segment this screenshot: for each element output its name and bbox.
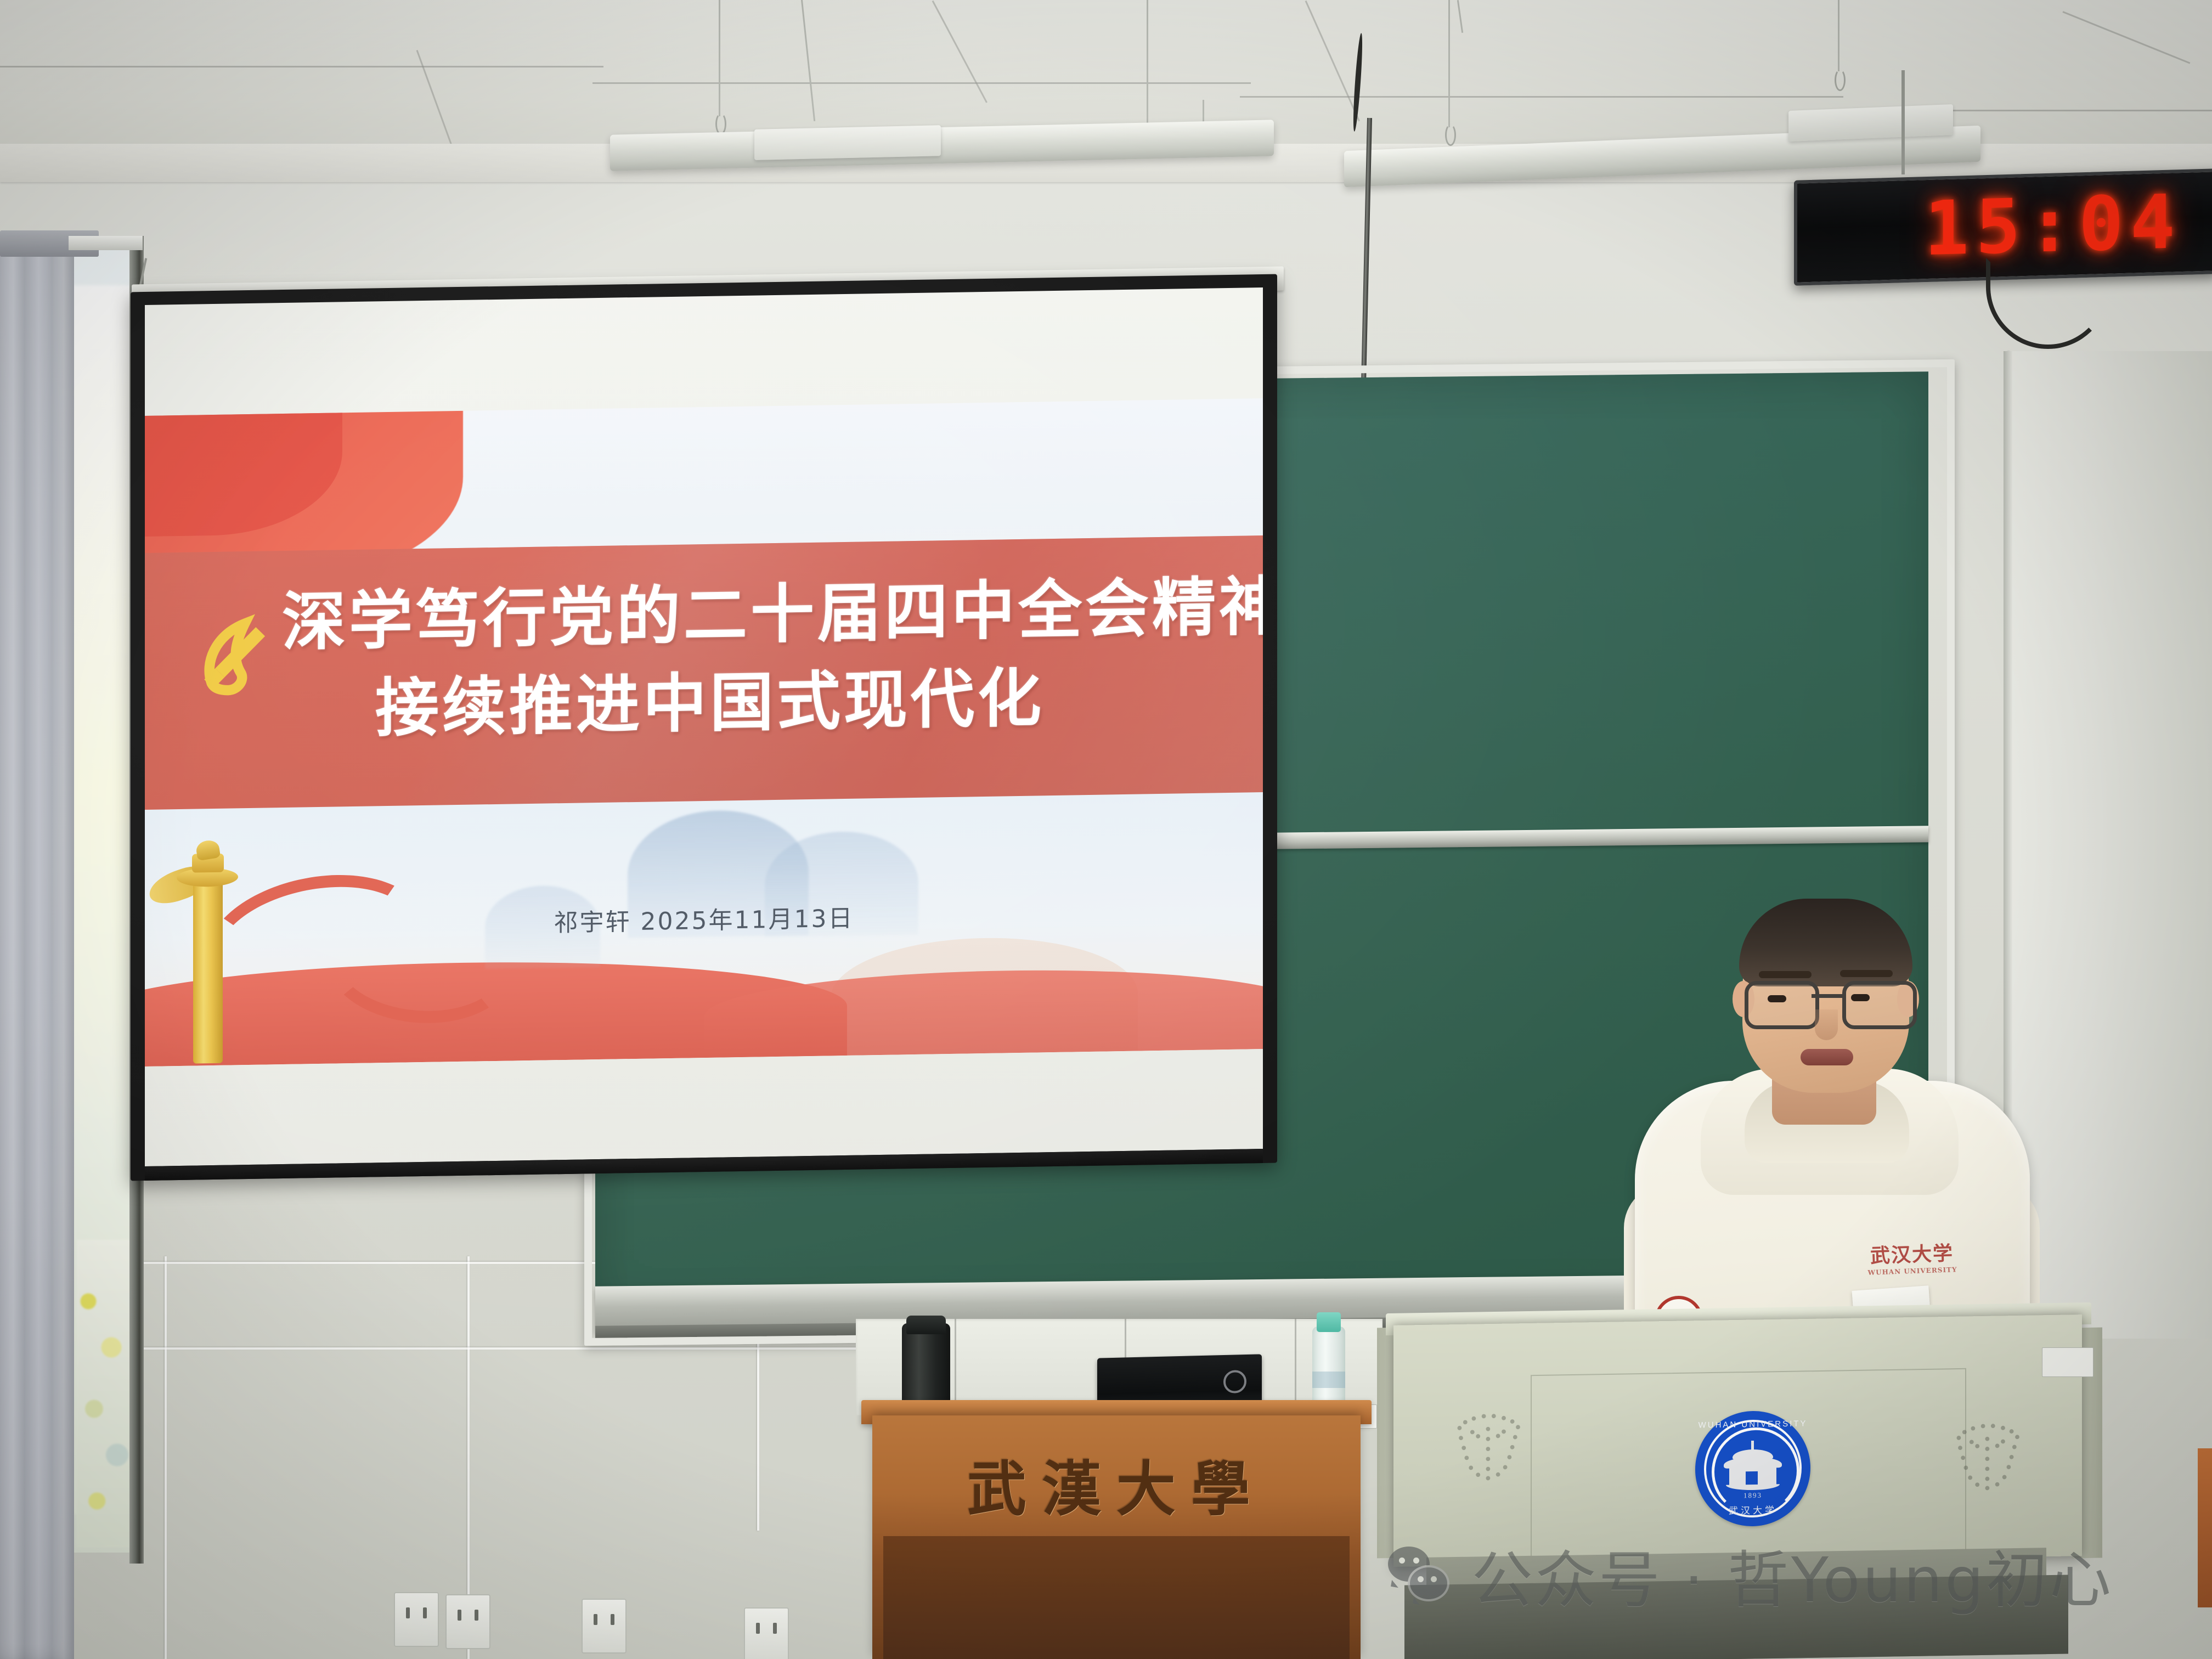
speaker-nose xyxy=(1815,1009,1838,1040)
window-foliage xyxy=(77,1240,134,1547)
podium-front-panel xyxy=(883,1536,1350,1659)
power-outlet[interactable] xyxy=(394,1592,439,1647)
lamp-wire xyxy=(1838,0,1839,71)
power-outlet[interactable] xyxy=(582,1599,627,1654)
speaker-mouth xyxy=(1801,1049,1853,1065)
water-bottle-cap[interactable] xyxy=(1317,1312,1341,1332)
lamp-hook xyxy=(1445,124,1456,146)
lamp-wire xyxy=(719,0,720,116)
wuhan-university-emblem-icon: WUHAN UNIVERSITY 1893 武汉大学 xyxy=(1695,1410,1810,1527)
curtain-track xyxy=(69,236,143,250)
watermark-text: 公众号 · 哲Young初心 xyxy=(1471,1531,2113,1620)
slide-title-line-1: 深学笃行党的二十届四中全会精神 xyxy=(282,565,1138,667)
lamp-wire xyxy=(1147,0,1148,125)
projection-surface: 深学笃行党的二十届四中全会精神 接续推进中国式现代化 xyxy=(145,287,1263,1166)
whu-emblem-top-text: WUHAN UNIVERSITY xyxy=(1695,1419,1810,1430)
hoodie-chest-text: 武汉大学 xyxy=(1870,1242,1954,1267)
lamp-hook xyxy=(1835,69,1846,91)
whu-emblem-cn-text: 武汉大学 xyxy=(1695,1502,1810,1517)
lectern-asset-tag xyxy=(2042,1347,2093,1377)
watermark: 公众号 · 哲Young初心 xyxy=(1388,1531,2113,1620)
slide-title-block: 深学笃行党的二十届四中全会精神 接续推进中国式现代化 xyxy=(282,565,1138,754)
ceiling-lamp-ballast xyxy=(754,125,941,160)
hoodie-chest-logo: 武汉大学 WUHAN UNIVERSITY xyxy=(1865,1237,1959,1271)
wall-orange-strip xyxy=(2198,1448,2212,1607)
slide-title-line-2: 接续推进中国式现代化 xyxy=(282,653,1138,754)
whu-pagoda-icon xyxy=(1724,1449,1782,1494)
slide-subtitle-text: 祁宇轩 2025年11月13日 xyxy=(554,905,854,938)
clock-bracket xyxy=(1901,70,1905,174)
wechat-icon xyxy=(1388,1547,1453,1604)
curtain[interactable] xyxy=(0,236,74,1659)
hammer-and-sickle-icon xyxy=(188,607,280,707)
wall-tile-seam xyxy=(165,1256,167,1659)
wall-tile-seam xyxy=(143,1347,878,1350)
laptop-logo-icon xyxy=(1223,1370,1246,1393)
podium-carved-text: 武漢大學 xyxy=(872,1442,1361,1527)
clock-time: 15:04 xyxy=(1831,185,2181,269)
lamp-wire xyxy=(1448,0,1450,127)
whu-emblem-year: 1893 xyxy=(1695,1490,1810,1500)
classroom-photo-scene: 15:04 xyxy=(0,0,2212,1659)
lectern-dot-decoration-left xyxy=(1454,1409,1525,1493)
lectern-dot-decoration-right xyxy=(1953,1419,2024,1503)
thermos-lid[interactable] xyxy=(906,1316,946,1334)
power-outlet[interactable] xyxy=(445,1594,490,1649)
presentation-slide: 深学笃行党的二十届四中全会精神 接续推进中国式现代化 xyxy=(145,398,1263,1066)
power-outlet[interactable] xyxy=(744,1607,789,1659)
projection-screen: 深学笃行党的二十届四中全会精神 接续推进中国式现代化 xyxy=(131,274,1277,1181)
